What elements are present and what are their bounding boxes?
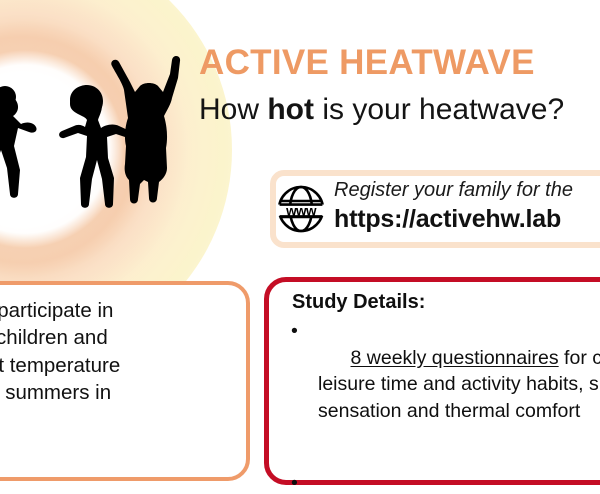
bullet-0-underlined: 8 weekly questionnaires (351, 347, 559, 369)
study-url[interactable]: https://activehw.lab (334, 206, 561, 234)
subtitle-emphasis: hot (267, 93, 314, 126)
intro-callout-text: nvited to participate in ting how childr… (0, 297, 250, 433)
study-details-heading: Study Details: (292, 291, 425, 314)
subtitle-pre: How (199, 93, 267, 126)
register-prompt: Register your family for the (334, 179, 573, 201)
bullet-marker: • (291, 318, 298, 345)
svg-text:www: www (285, 204, 317, 219)
list-item: •8 weekly questionnaires for childre lei… (288, 318, 600, 451)
subtitle-post: is your heatwave? (314, 93, 564, 126)
poster-canvas: ACTIVE HEATWAVE How hot is your heatwave… (0, 0, 600, 494)
list-item: •Heat warning surveys to complete heat w… (288, 470, 600, 494)
study-details-bullet-list: •8 weekly questionnaires for childre lei… (288, 318, 600, 494)
poster-title: ACTIVE HEATWAVE (199, 45, 535, 80)
bullet-marker: • (291, 470, 298, 494)
www-globe-icon: www (274, 182, 328, 236)
jumping-children-silhouettes (0, 38, 204, 228)
poster-subtitle: How hot is your heatwave? (199, 93, 564, 126)
